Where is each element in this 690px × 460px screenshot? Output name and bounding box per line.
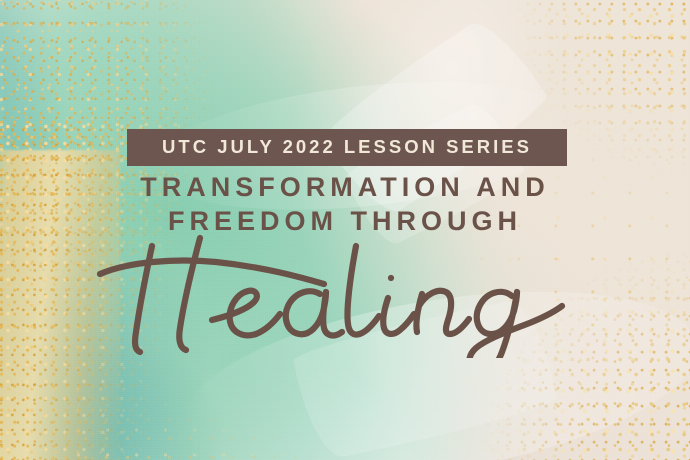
text-content: UTC JULY 2022 LESSON SERIES TRANSFORMATI…	[0, 0, 690, 460]
eyebrow-label: UTC JULY 2022 LESSON SERIES	[162, 138, 532, 157]
eyebrow-banner-bar: UTC JULY 2022 LESSON SERIES	[127, 129, 567, 166]
headline-line-1: TRANSFORMATION AND	[0, 170, 690, 204]
banner-canvas: UTC JULY 2022 LESSON SERIES TRANSFORMATI…	[0, 0, 690, 460]
